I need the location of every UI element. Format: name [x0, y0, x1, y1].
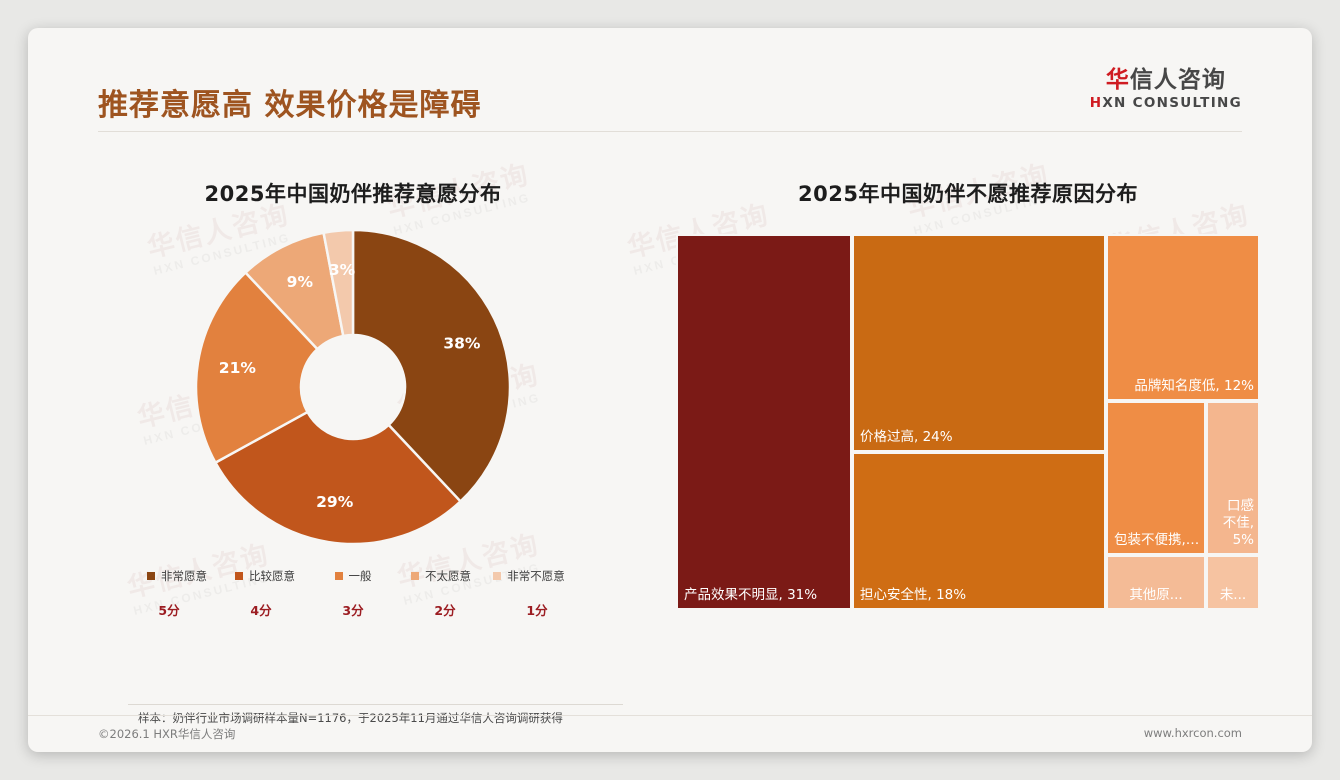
sample-note-divider: [128, 704, 623, 705]
treemap-cell-label: 价格过高, 24%: [860, 429, 1100, 446]
donut-slice-label: 29%: [316, 493, 354, 511]
treemap-cell-label: 口感不佳, 5%: [1214, 498, 1254, 549]
legend-label: 非常不愿意: [507, 568, 565, 584]
donut-slice-label: 3%: [329, 261, 356, 279]
treemap-cell[interactable]: 未...: [1206, 555, 1260, 610]
logo-en-accent: H: [1090, 95, 1103, 111]
treemap-cell-label: 其他原...: [1110, 587, 1202, 604]
donut-slice-label: 21%: [219, 359, 257, 377]
score-scale-row: 5分4分3分2分1分: [68, 600, 638, 619]
score-label: 4分: [215, 600, 307, 619]
score-label: 2分: [399, 600, 491, 619]
legend-item[interactable]: 非常不愿意: [485, 568, 573, 584]
legend-item[interactable]: 比较愿意: [221, 568, 309, 584]
treemap-chart-panel: 2025年中国奶伴不愿推荐原因分布 产品效果不明显, 31%价格过高, 24%担…: [658, 178, 1278, 698]
score-label: 3分: [307, 600, 399, 619]
website-text: www.hxrcon.com: [1144, 726, 1242, 740]
legend-swatch-icon: [235, 572, 243, 580]
logo-cn-text: 信人咨询: [1130, 67, 1226, 93]
score-label: 5分: [123, 600, 215, 619]
legend-item[interactable]: 一般: [309, 568, 397, 584]
title-divider: [98, 131, 1242, 132]
page-title: 推荐意愿高 效果价格是障碍: [98, 80, 481, 124]
slide-header: 推荐意愿高 效果价格是障碍 华信人咨询 HXN CONSULTING: [28, 28, 1312, 126]
treemap-chart-title: 2025年中国奶伴不愿推荐原因分布: [658, 178, 1278, 208]
donut-chart-area: 38%29%21%9%3%: [68, 222, 638, 552]
legend-label: 比较愿意: [249, 568, 295, 584]
copyright-text: ©2026.1 HXR华信人咨询: [98, 726, 235, 742]
logo-en-text: XN CONSULTING: [1102, 95, 1242, 111]
treemap-cell-label: 担心安全性, 18%: [860, 587, 1100, 604]
slide-canvas: 华信人咨询HXN CONSULTING 华信人咨询HXN CONSULTING …: [28, 28, 1312, 752]
treemap-cell-label: 产品效果不明显, 31%: [684, 587, 846, 604]
donut-chart-title: 2025年中国奶伴推荐意愿分布: [68, 178, 638, 208]
legend-label: 一般: [349, 568, 372, 584]
logo-accent-char: 华: [1106, 67, 1130, 93]
legend-label: 不太愿意: [425, 568, 471, 584]
treemap-cell[interactable]: 口感不佳, 5%: [1206, 401, 1260, 555]
legend-item[interactable]: 非常愿意: [133, 568, 221, 584]
score-label: 1分: [491, 600, 583, 619]
treemap-cell[interactable]: 价格过高, 24%: [852, 234, 1106, 452]
company-logo: 华信人咨询 HXN CONSULTING: [1090, 68, 1242, 111]
donut-legend: 非常愿意比较愿意一般不太愿意非常不愿意: [68, 568, 638, 584]
legend-label: 非常愿意: [161, 568, 207, 584]
treemap-cell[interactable]: 其他原...: [1106, 555, 1206, 610]
treemap-cell[interactable]: 担心安全性, 18%: [852, 452, 1106, 610]
donut-chart-svg: 38%29%21%9%3%: [188, 222, 518, 552]
treemap-cell-label: 品牌知名度低, 12%: [1114, 378, 1254, 395]
treemap-cell-label: 包装不便携, 7%: [1114, 532, 1200, 549]
donut-slice-label: 9%: [287, 273, 314, 291]
legend-swatch-icon: [493, 572, 501, 580]
slide-footer: ©2026.1 HXR华信人咨询 www.hxrcon.com: [28, 715, 1312, 752]
treemap-cell[interactable]: 品牌知名度低, 12%: [1106, 234, 1260, 401]
legend-swatch-icon: [147, 572, 155, 580]
treemap-cell-label: 未...: [1210, 587, 1256, 604]
legend-swatch-icon: [335, 572, 343, 580]
treemap-cell[interactable]: 包装不便携, 7%: [1106, 401, 1206, 555]
legend-swatch-icon: [411, 572, 419, 580]
legend-item[interactable]: 不太愿意: [397, 568, 485, 584]
donut-chart-panel: 2025年中国奶伴推荐意愿分布 38%29%21%9%3% 非常愿意比较愿意一般…: [68, 178, 638, 698]
treemap-cell[interactable]: 产品效果不明显, 31%: [676, 234, 852, 610]
donut-slice-label: 38%: [443, 334, 481, 352]
treemap-chart-area: 产品效果不明显, 31%价格过高, 24%担心安全性, 18%品牌知名度低, 1…: [676, 234, 1260, 610]
